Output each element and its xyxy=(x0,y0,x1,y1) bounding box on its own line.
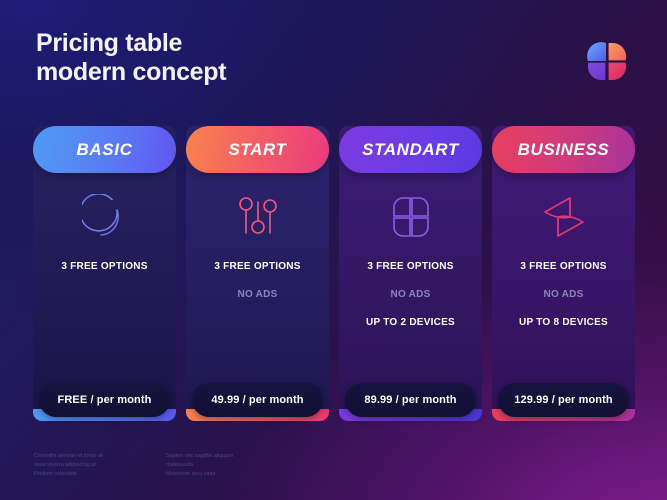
page-title: Pricing table modern concept xyxy=(36,29,226,87)
flower-icon xyxy=(388,173,434,261)
feature-item: NO ADS xyxy=(543,289,583,300)
pricing-table-poster: Pricing table modern concept xyxy=(0,0,667,500)
four-petal-logo xyxy=(576,30,638,92)
feature-list: 3 FREE OPTIONS xyxy=(33,261,176,289)
plan-name: BASIC xyxy=(77,140,133,160)
feature-item: NO ADS xyxy=(390,289,430,300)
plan-header-business[interactable]: BUSINESS xyxy=(492,126,635,173)
feature-list: 3 FREE OPTIONS NO ADS xyxy=(186,261,329,317)
feature-item: 3 FREE OPTIONS xyxy=(214,261,300,272)
feature-item: 3 FREE OPTIONS xyxy=(367,261,453,272)
footer-column: Convallis aenean et tortor at risus vive… xyxy=(34,452,134,479)
feature-list: 3 FREE OPTIONS NO ADS UP TO 2 DEVICES xyxy=(339,261,482,345)
plan-card-standart[interactable]: STANDART 3 FREE OPTIONS NO ADS xyxy=(339,126,482,421)
plan-header-start[interactable]: START xyxy=(186,126,329,173)
feature-list: 3 FREE OPTIONS NO ADS UP TO 8 DEVICES xyxy=(492,261,635,345)
feature-item: UP TO 2 DEVICES xyxy=(366,317,455,328)
feature-item: UP TO 8 DEVICES xyxy=(519,317,608,328)
plan-header-standart[interactable]: STANDART xyxy=(339,126,482,173)
feature-item: 3 FREE OPTIONS xyxy=(520,261,606,272)
plan-name: START xyxy=(228,140,286,160)
plan-card-basic[interactable]: BASIC 3 FREE OPTIONS xyxy=(33,126,176,421)
footer-column: Sapien nec sagittis aliquam malesuada bi… xyxy=(166,452,266,479)
plan-cards: BASIC 3 FREE OPTIONS START xyxy=(33,126,635,421)
plan-card-start[interactable]: START 3 FREE OPT xyxy=(186,126,329,421)
feature-item: NO ADS xyxy=(237,289,277,300)
plan-name: BUSINESS xyxy=(518,140,610,160)
plan-name: STANDART xyxy=(362,140,459,160)
bolt-ribbon-icon xyxy=(539,173,589,261)
feature-item: 3 FREE OPTIONS xyxy=(61,261,147,272)
plan-card-business[interactable]: BUSINESS 3 FREE OPTIONS NO ADS xyxy=(492,126,635,421)
sliders-icon xyxy=(235,173,281,261)
plan-header-basic[interactable]: BASIC xyxy=(33,126,176,173)
ring-icon xyxy=(82,173,128,261)
footer-note: Convallis aenean et tortor at risus vive… xyxy=(34,452,266,479)
